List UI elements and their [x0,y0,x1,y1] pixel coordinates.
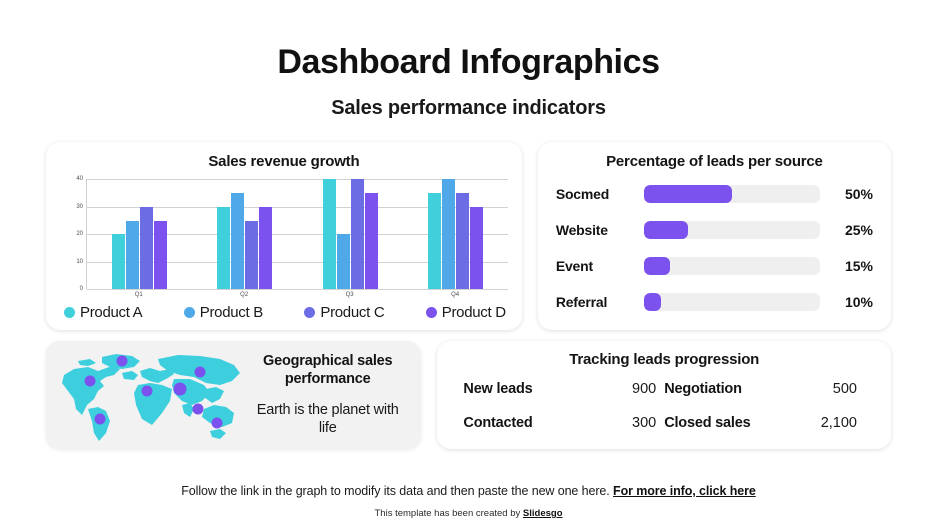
tracking-cell: New leads900 [463,381,664,397]
y-axis-tick: 30 [76,204,83,210]
footer: Follow the link in the graph to modify i… [0,484,937,519]
more-info-link[interactable]: For more info, click here [613,484,756,498]
legend-label: Product C [320,304,384,321]
legend-item[interactable]: Product D [426,304,506,321]
plot-canvas [86,179,508,289]
y-axis-tick: 10 [76,259,83,265]
footer-instruction: Follow the link in the graph to modify i… [0,484,937,498]
lead-source-label: Website [556,222,644,238]
lead-source-row: Referral10% [556,293,873,311]
x-axis-label: Q2 [217,289,272,302]
lead-progress-track [644,257,820,275]
bar [126,221,139,290]
tracking-value: 900 [608,381,664,397]
tracking-panel-title: Tracking leads progression [463,351,865,368]
x-axis-labels: Q1Q2Q3Q4 [86,289,508,302]
bars-area [87,179,508,289]
tracking-label: Negotiation [664,381,809,397]
sales-revenue-chart-card: Sales revenue growth 010203040 Q1Q2Q3Q4 … [46,142,522,330]
bar-group [323,179,378,289]
top-row: Sales revenue growth 010203040 Q1Q2Q3Q4 … [0,142,937,330]
x-axis-label: Q3 [322,289,377,302]
tracking-row: New leads900Negotiation500 [463,381,865,397]
bar [442,179,455,289]
chart-title: Sales revenue growth [60,153,508,170]
middle-row: Geographical sales performance Earth is … [0,341,937,449]
tracking-value: 300 [608,415,664,431]
y-axis-tick: 40 [76,176,83,182]
leads-rows: Socmed50%Website25%Event15%Referral10% [556,176,873,319]
tracking-cell: Closed sales2,100 [664,415,865,431]
y-axis-tick: 0 [80,286,83,292]
legend-color-dot-icon [184,307,195,318]
bar-group [428,179,483,289]
bar [154,221,167,290]
tracking-label: Closed sales [664,415,809,431]
legend-color-dot-icon [426,307,437,318]
footer-credit: This template has been created by Slides… [0,508,937,519]
lead-source-row: Website25% [556,221,873,239]
bar [456,193,469,289]
bar [112,234,125,289]
leads-panel-title: Percentage of leads per source [556,153,873,170]
bar [470,207,483,290]
tracking-leads-card: Tracking leads progression New leads900N… [437,341,891,449]
lead-progress-fill [644,185,732,203]
world-map-icon [54,347,250,443]
lead-percent-value: 50% [829,186,873,202]
lead-percent-value: 10% [829,294,873,310]
legend-label: Product B [200,304,263,321]
lead-source-label: Referral [556,294,644,310]
bar [217,207,230,290]
footer-credit-text: This template has been created by [375,508,521,519]
legend-color-dot-icon [304,307,315,318]
legend-label: Product A [80,304,142,321]
tracking-value: 500 [809,381,865,397]
lead-percent-value: 25% [829,222,873,238]
legend-item[interactable]: Product C [304,304,384,321]
lead-source-row: Socmed50% [556,185,873,203]
page-header: Dashboard Infographics Sales performance… [0,0,937,120]
x-axis-label: Q4 [428,289,483,302]
lead-percent-value: 15% [829,258,873,274]
tracking-label: New leads [463,381,608,397]
leads-per-source-card: Percentage of leads per source Socmed50%… [538,142,891,330]
legend-label: Product D [442,304,506,321]
gridline [87,289,508,290]
chart-legend: Product AProduct BProduct CProduct D [60,302,508,321]
bar [337,234,350,289]
slidesgo-link[interactable]: Slidesgo [523,508,563,519]
lead-progress-track [644,221,820,239]
page-subtitle: Sales performance indicators [0,97,937,120]
lead-progress-track [644,293,820,311]
y-axis: 010203040 [60,179,86,289]
page-title: Dashboard Infographics [0,44,937,81]
bar-group [217,179,272,289]
geo-subtitle: Earth is the planet with life [250,402,405,437]
lead-source-row: Event15% [556,257,873,275]
legend-color-dot-icon [64,307,75,318]
tracking-cell: Contacted300 [463,415,664,431]
bar-group [112,179,167,289]
geo-title: Geographical sales performance [250,353,405,388]
lead-progress-fill [644,293,662,311]
tracking-value: 2,100 [809,415,865,431]
legend-item[interactable]: Product A [64,304,142,321]
y-axis-tick: 20 [76,231,83,237]
bar [428,193,441,289]
x-axis-label: Q1 [111,289,166,302]
footer-instruction-text: Follow the link in the graph to modify i… [181,484,609,498]
bar [351,179,364,289]
tracking-cell: Negotiation500 [664,381,865,397]
lead-source-label: Socmed [556,186,644,202]
lead-source-label: Event [556,258,644,274]
bar [259,207,272,290]
bar [365,193,378,289]
bar [140,207,153,290]
lead-progress-fill [644,221,688,239]
bar [245,221,258,290]
bar [231,193,244,289]
geographical-sales-card: Geographical sales performance Earth is … [46,341,421,449]
tracking-label: Contacted [463,415,608,431]
legend-item[interactable]: Product B [184,304,263,321]
geo-text-block: Geographical sales performance Earth is … [250,353,409,438]
bar [323,179,336,289]
lead-progress-track [644,185,820,203]
lead-progress-fill [644,257,670,275]
chart-plot-area: 010203040 [60,179,508,289]
tracking-row: Contacted300Closed sales2,100 [463,415,865,431]
tracking-rows: New leads900Negotiation500Contacted300Cl… [463,372,865,439]
